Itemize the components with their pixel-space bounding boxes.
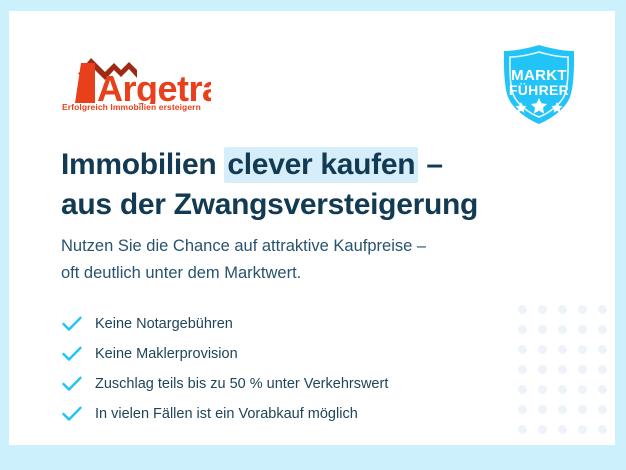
benefit-list: Keine Notargebühren Keine Maklerprovisio… — [61, 309, 521, 429]
decoration-dot — [538, 385, 547, 394]
decoration-dot — [578, 405, 587, 414]
decoration-dot — [538, 365, 547, 374]
list-item: Zuschlag teils bis zu 50 % unter Verkehr… — [61, 369, 521, 399]
list-item-label: Zuschlag teils bis zu 50 % unter Verkehr… — [95, 376, 388, 392]
decoration-dot — [558, 405, 567, 414]
badge-line2: FÜHRER — [509, 82, 569, 98]
list-item-label: Keine Notargebühren — [95, 316, 233, 332]
dot-grid-decoration-icon — [518, 305, 615, 445]
decoration-dot — [578, 305, 587, 314]
decoration-dot — [558, 325, 567, 334]
decoration-dot — [598, 405, 607, 414]
decoration-dot — [598, 385, 607, 394]
decoration-dot — [598, 345, 607, 354]
shield-badge-icon: MARKT FÜHRER — [496, 44, 582, 126]
check-icon — [61, 373, 83, 395]
decoration-dot — [558, 345, 567, 354]
subtitle-line2: oft deutlich unter dem Marktwert. — [61, 260, 561, 287]
decoration-dot — [578, 325, 587, 334]
decoration-dot — [598, 325, 607, 334]
decoration-dot — [538, 325, 547, 334]
decoration-dot — [538, 405, 547, 414]
decoration-dot — [598, 305, 607, 314]
list-item-label: Keine Maklerprovision — [95, 346, 238, 362]
headline-part1: Immobilien — [61, 148, 224, 181]
decoration-dot — [578, 365, 587, 374]
subtitle-line1: Nutzen Sie die Chance auf attraktive Kau… — [61, 233, 561, 260]
logo-tagline: Erfolgreich Immobilien ersteigern — [62, 102, 201, 112]
decoration-dot — [598, 425, 607, 434]
list-item: Keine Maklerprovision — [61, 339, 521, 369]
check-icon — [61, 313, 83, 335]
list-item-label: In vielen Fällen ist ein Vorabkauf mögli… — [95, 406, 358, 422]
list-item: In vielen Fällen ist ein Vorabkauf mögli… — [61, 399, 521, 429]
decoration-dot — [538, 425, 547, 434]
list-item: Keine Notargebühren — [61, 309, 521, 339]
decoration-dot — [558, 305, 567, 314]
decoration-dot — [598, 365, 607, 374]
decoration-dot — [578, 345, 587, 354]
promo-banner: Argetra Erfolgreich Immobilien ersteiger… — [0, 0, 626, 470]
decoration-dot — [578, 385, 587, 394]
markt-fuehrer-badge: MARKT FÜHRER — [496, 44, 582, 126]
decoration-dot — [538, 305, 547, 314]
svg-text:Argetra: Argetra — [97, 68, 211, 104]
check-icon — [61, 343, 83, 365]
page-title: Immobilien clever kaufen – aus der Zwang… — [61, 146, 561, 224]
decoration-dot — [538, 345, 547, 354]
banner-card: Argetra Erfolgreich Immobilien ersteiger… — [9, 11, 615, 445]
headline-highlight: clever kaufen — [224, 147, 418, 183]
decoration-dot — [578, 425, 587, 434]
argetra-logo[interactable]: Argetra Erfolgreich Immobilien ersteiger… — [61, 56, 211, 118]
decoration-dot — [558, 425, 567, 434]
argetra-roof-a-logo-icon: Argetra — [61, 56, 211, 104]
headline-line2: aus der Zwangsversteigerung — [61, 186, 561, 224]
headline-part2: – — [418, 148, 442, 181]
page-subtitle: Nutzen Sie die Chance auf attraktive Kau… — [61, 233, 561, 286]
check-icon — [61, 403, 83, 425]
decoration-dot — [558, 365, 567, 374]
decoration-dot — [558, 385, 567, 394]
